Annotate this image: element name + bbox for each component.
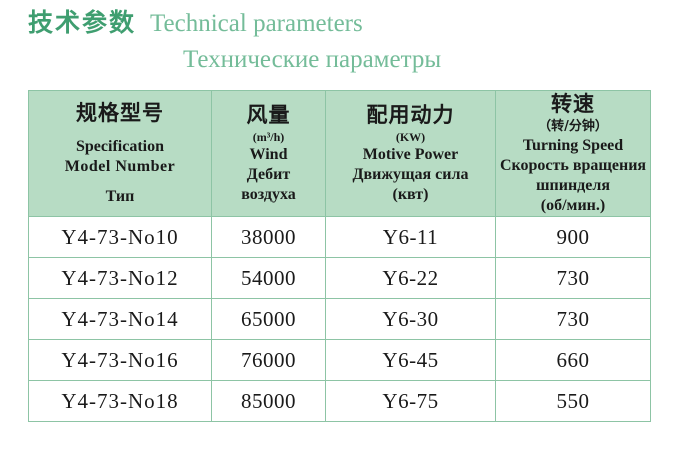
spacer: [29, 127, 211, 137]
cell-speed: 730: [496, 299, 651, 340]
column-header-turning-speed-en: Turning Speed: [496, 136, 650, 156]
page-title-russian: Технические параметры: [183, 45, 648, 75]
cell-speed: 730: [496, 258, 651, 299]
column-header-motive-power-ru2: (квт): [326, 185, 495, 205]
column-header-specification-cn: 规格型号: [29, 100, 211, 127]
column-header-wind-unit: (m³/h): [212, 129, 325, 145]
cell-model: Y4-73-No12: [29, 258, 212, 299]
column-header-specification-ru: Тип: [29, 187, 211, 207]
spacer: [29, 177, 211, 187]
cell-power: Y6-22: [326, 258, 496, 299]
column-header-motive-power-unit: (KW): [326, 129, 495, 145]
cell-speed: 550: [496, 381, 651, 422]
cell-wind: 76000: [212, 340, 326, 381]
cell-wind: 65000: [212, 299, 326, 340]
title-row: 技术参数 Technical parameters: [28, 8, 648, 42]
column-header-specification-en2: Model Number: [29, 157, 211, 177]
column-header-wind-en: Wind: [212, 145, 325, 165]
page-title-block: 技术参数 Technical parameters Технические па…: [28, 8, 648, 80]
cell-power: Y6-30: [326, 299, 496, 340]
column-header-motive-power-ru: Движущая сила: [326, 165, 495, 185]
column-header-motive-power: 配用动力 (KW) Motive Power Движущая сила (кв…: [326, 91, 496, 217]
column-header-motive-power-cn: 配用动力: [326, 102, 495, 129]
cell-power: Y6-45: [326, 340, 496, 381]
cell-model: Y4-73-No16: [29, 340, 212, 381]
column-header-turning-speed: 转速 （转/分钟） Turning Speed Скорость вращени…: [496, 91, 651, 217]
column-header-turning-speed-ru: Скорость вращения: [496, 156, 650, 176]
table-row: Y4-73-No16 76000 Y6-45 660: [29, 340, 651, 381]
page-title-english: Technical parameters: [150, 9, 363, 39]
column-header-wind: 风量 (m³/h) Wind Дебит воздуха: [212, 91, 326, 217]
cell-model: Y4-73-No10: [29, 217, 212, 258]
column-header-motive-power-en: Motive Power: [326, 145, 495, 165]
column-header-turning-speed-ru2: шпинделя: [496, 176, 650, 196]
cell-model: Y4-73-No18: [29, 381, 212, 422]
cell-wind: 54000: [212, 258, 326, 299]
column-header-specification: 规格型号 Specification Model Number Тип: [29, 91, 212, 217]
table-row: Y4-73-No12 54000 Y6-22 730: [29, 258, 651, 299]
cell-power: Y6-11: [326, 217, 496, 258]
column-header-wind-ru2: воздуха: [212, 185, 325, 205]
cell-wind: 85000: [212, 381, 326, 422]
column-header-turning-speed-ru3: (об/мин.): [496, 196, 650, 216]
cell-power: Y6-75: [326, 381, 496, 422]
page-title-chinese: 技术参数: [28, 8, 136, 38]
column-header-turning-speed-unit: （转/分钟）: [496, 118, 650, 136]
table-row: Y4-73-No14 65000 Y6-30 730: [29, 299, 651, 340]
cell-wind: 38000: [212, 217, 326, 258]
column-header-wind-cn: 风量: [212, 102, 325, 129]
cell-speed: 660: [496, 340, 651, 381]
cell-speed: 900: [496, 217, 651, 258]
technical-parameters-table: 规格型号 Specification Model Number Тип 风量 (…: [28, 90, 651, 422]
cell-model: Y4-73-No14: [29, 299, 212, 340]
header-row: 规格型号 Specification Model Number Тип 风量 (…: [29, 91, 651, 217]
table-row: Y4-73-No18 85000 Y6-75 550: [29, 381, 651, 422]
column-header-turning-speed-cn: 转速: [496, 91, 650, 118]
table-body: Y4-73-No10 38000 Y6-11 900 Y4-73-No12 54…: [29, 217, 651, 422]
column-header-wind-ru: Дебит: [212, 165, 325, 185]
column-header-specification-en: Specification: [29, 137, 211, 157]
table-row: Y4-73-No10 38000 Y6-11 900: [29, 217, 651, 258]
table-header: 规格型号 Specification Model Number Тип 风量 (…: [29, 91, 651, 217]
